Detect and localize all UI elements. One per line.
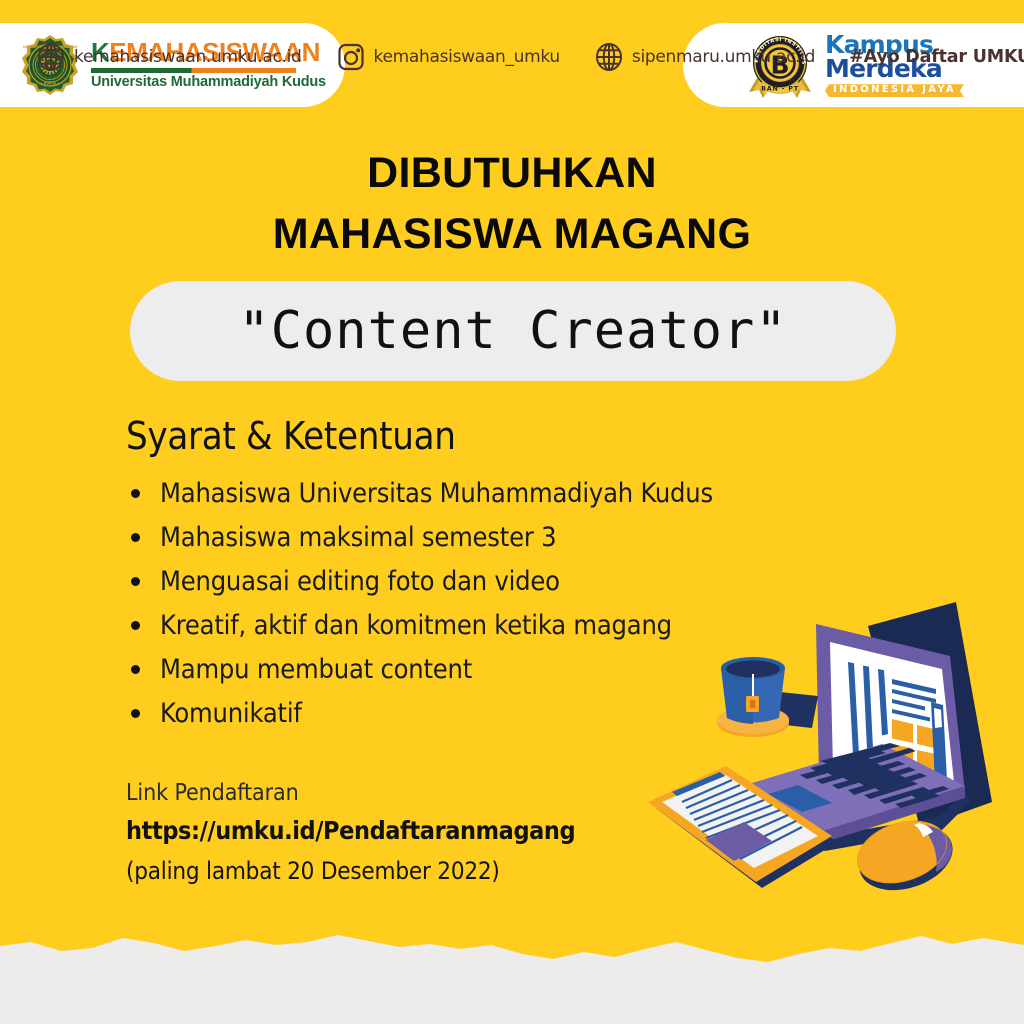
requirements-title: Syarat & Ketentuan (126, 414, 456, 458)
footer-bar (0, 924, 1024, 1024)
globe-icon (594, 42, 624, 72)
list-item-label: Mampu membuat content (160, 654, 472, 685)
registration-link-label: Link Pendaftaran (126, 780, 575, 806)
globe-icon (36, 42, 66, 72)
list-item-label: Menguasai editing foto dan video (160, 566, 560, 597)
kampus-merdeka-ribbon: INDONESIA JAYA (825, 84, 964, 97)
footer-item-label: kemahasiswaan.umku.ac.id (74, 47, 302, 67)
footer-item-website-kemahasiswaan[interactable]: kemahasiswaan.umku.ac.id (36, 42, 302, 72)
instagram-icon (336, 42, 366, 72)
list-item-label: Mahasiswa maksimal semester 3 (160, 522, 556, 553)
list-item: Mahasiswa maksimal semester 3 (126, 522, 826, 554)
list-item-label: Kreatif, aktif dan komitmen ketika magan… (160, 610, 672, 641)
footer-item-label: sipenmaru.umku.ac.id (632, 47, 815, 67)
registration-link-url[interactable]: https://umku.id/Pendaftaranmagang (126, 816, 575, 845)
footer-item-instagram[interactable]: kemahasiswaan_umku (336, 42, 560, 72)
list-item: Mahasiswa Universitas Muhammadiyah Kudus (126, 478, 826, 510)
bullet-icon (131, 621, 140, 630)
bullet-icon (131, 489, 140, 498)
laptop-tablet-coffee-mouse-illustration (620, 596, 1024, 932)
footer-item-label: kemahasiswaan_umku (374, 47, 560, 67)
list-item-label: Komunikatif (160, 698, 302, 729)
registration-deadline: (paling lambat 20 Desember 2022) (126, 857, 575, 885)
bullet-icon (131, 577, 140, 586)
svg-text:• KUDUS •: • KUDUS • (41, 82, 59, 86)
footer-hashtag: #Ayo Daftar UMKU (849, 47, 1024, 67)
brand-subtitle: Universitas Muhammadiyah Kudus (91, 75, 326, 91)
page-headline: DIBUTUHKAN MAHASISWA MAGANG (0, 143, 1024, 265)
role-pill: "Content Creator" (130, 281, 896, 381)
list-item-label: Mahasiswa Universitas Muhammadiyah Kudus (160, 478, 713, 509)
footer-item-website-sipenmaru[interactable]: sipenmaru.umku.ac.id (594, 42, 815, 72)
registration-link-block: Link Pendaftaran https://umku.id/Pendaft… (126, 780, 575, 885)
bullet-icon (131, 533, 140, 542)
headline-line-1: DIBUTUHKAN (0, 143, 1024, 204)
poster-canvas: UNIVERSITAS MUHAMMADIYAH • KUDUS • KEMAH… (0, 0, 1024, 1024)
headline-line-2: MAHASISWA MAGANG (0, 204, 1024, 265)
svg-text:BAN - PT: BAN - PT (761, 85, 799, 93)
footer-contact-row: kemahasiswaan.umku.ac.id kemahasiswaan_u… (0, 42, 1024, 72)
list-item: Menguasai editing foto dan video (126, 566, 826, 598)
bullet-icon (131, 709, 140, 718)
bullet-icon (131, 665, 140, 674)
role-pill-label: "Content Creator" (238, 301, 787, 361)
